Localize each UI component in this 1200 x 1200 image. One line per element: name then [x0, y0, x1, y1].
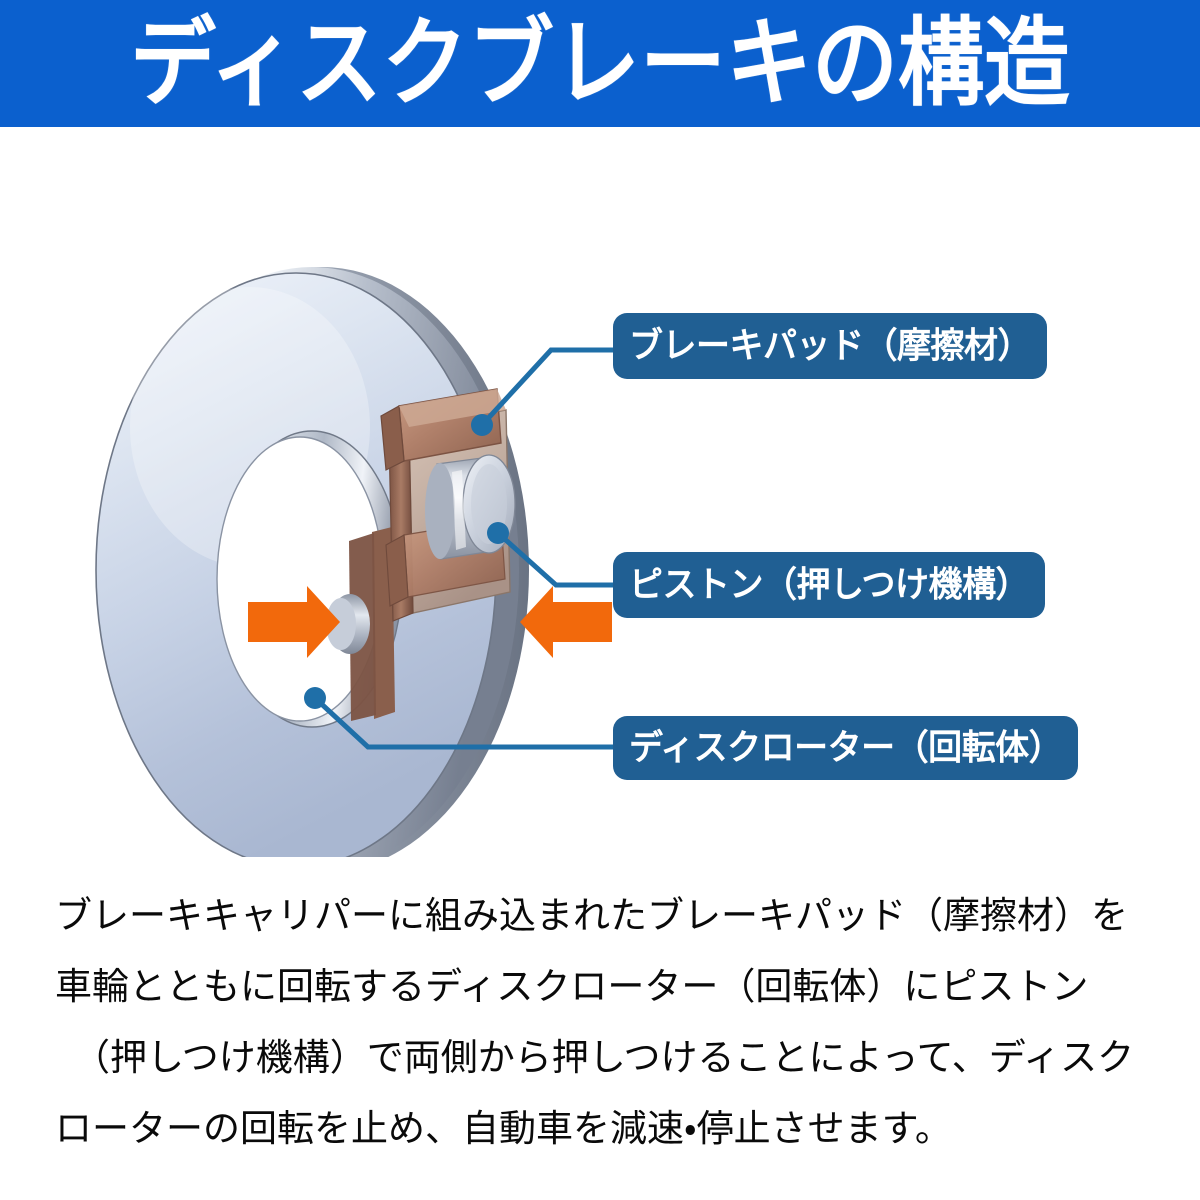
description-line-1: ブレーキキャリパーに組み込まれたブレーキパッド（摩擦材）を — [55, 880, 1155, 951]
leader-dot-piston — [487, 522, 509, 544]
callout-brake-pad[interactable]: ブレーキパッド（摩擦材） — [613, 313, 1047, 379]
description-paragraph: ブレーキキャリパーに組み込まれたブレーキパッド（摩擦材）を 車輪とともに回転する… — [55, 880, 1155, 1164]
description-line-2: 車輪とともに回転するディスクローター（回転体）にピストン — [55, 951, 1155, 1022]
page-title: ディスクブレーキの構造 — [130, 15, 1070, 111]
callout-piston-label: ピストン（押しつけ機構） — [629, 567, 1029, 602]
callout-piston[interactable]: ピストン（押しつけ機構） — [613, 552, 1045, 618]
description-line-3: （押しつけ機構）で両側から押しつけることによって、ディスク — [55, 1022, 1155, 1093]
header-banner: ディスクブレーキの構造 — [0, 0, 1200, 127]
right-press-arrow — [520, 586, 612, 658]
description-line-4: ローターの回転を止め、自動車を減速・停止させます。 — [55, 1093, 1155, 1164]
callout-disc-rotor[interactable]: ディスクローター（回転体） — [613, 716, 1078, 780]
callout-brake-pad-label: ブレーキパッド（摩擦材） — [629, 328, 1031, 363]
leader-dot-brake-pad — [471, 414, 493, 436]
infographic-page: ディスクブレーキの構造 — [0, 0, 1200, 1200]
leader-dot-disc-rotor — [304, 687, 326, 709]
callout-disc-rotor-label: ディスクローター（回転体） — [629, 730, 1062, 765]
